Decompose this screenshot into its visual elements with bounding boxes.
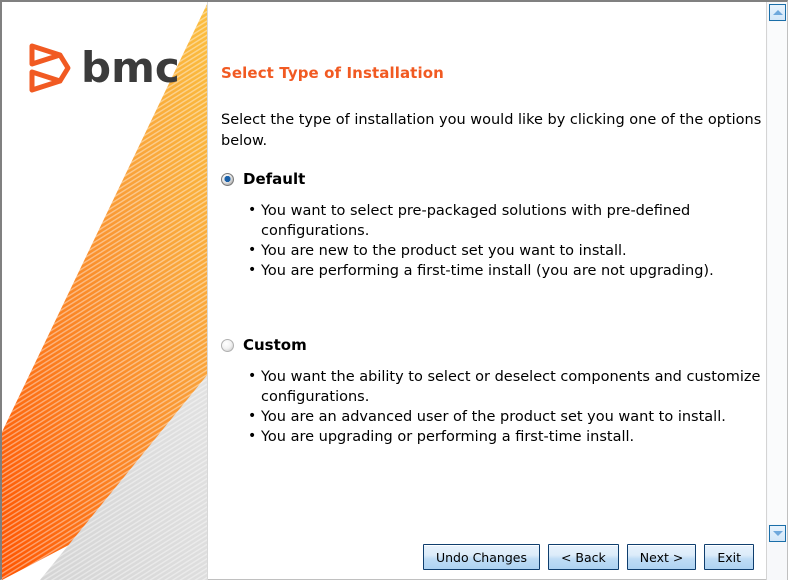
radio-default-label: Default [243, 170, 305, 188]
scroll-down-arrow-icon[interactable] [769, 525, 786, 542]
vertical-scrollbar[interactable] [766, 2, 787, 580]
list-item: You are an advanced user of the product … [247, 407, 766, 427]
wizard-button-bar: Undo Changes < Back Next > Exit [423, 544, 754, 570]
bmc-wordmark-label: bmc [81, 45, 180, 91]
option-group-default: Default You want to select pre-packaged … [221, 170, 766, 268]
branding-banner: bmc [2, 2, 208, 580]
bmc-bowtie-icon [27, 42, 73, 94]
radio-custom-label: Custom [243, 336, 307, 354]
back-button[interactable]: < Back [548, 544, 619, 570]
radio-default-icon[interactable] [221, 173, 234, 186]
list-item: You are new to the product set you want … [247, 241, 766, 261]
list-item: You want to select pre-packaged solution… [247, 201, 766, 241]
triangle-up-icon [773, 10, 783, 15]
radio-option-default[interactable]: Default [221, 170, 766, 188]
bmc-wordmark-text: bmc [81, 45, 191, 91]
radio-custom-icon[interactable] [221, 339, 234, 352]
option-group-custom: Custom You want the ability to select or… [221, 336, 766, 434]
list-item: You want the ability to select or desele… [247, 367, 766, 407]
list-item: You are performing a first-time install … [247, 261, 766, 281]
exit-button[interactable]: Exit [704, 544, 754, 570]
scroll-up-arrow-icon[interactable] [769, 4, 786, 21]
custom-bullet-list: You want the ability to select or desele… [247, 367, 766, 447]
list-item: You are upgrading or performing a first-… [247, 427, 766, 447]
content-pane: Select Type of Installation Select the t… [209, 2, 766, 579]
next-button[interactable]: Next > [627, 544, 697, 570]
page-title: Select Type of Installation [221, 64, 444, 82]
triangle-down-icon [773, 531, 783, 536]
radio-option-custom[interactable]: Custom [221, 336, 766, 354]
default-bullet-list: You want to select pre-packaged solution… [247, 201, 766, 281]
scrollbar-track[interactable] [768, 22, 787, 524]
bmc-logo: bmc [27, 42, 191, 94]
undo-changes-button[interactable]: Undo Changes [423, 544, 540, 570]
intro-description: Select the type of installation you woul… [221, 110, 766, 152]
installer-wizard-window: bmc Select Type of Installation Select t… [0, 0, 788, 580]
